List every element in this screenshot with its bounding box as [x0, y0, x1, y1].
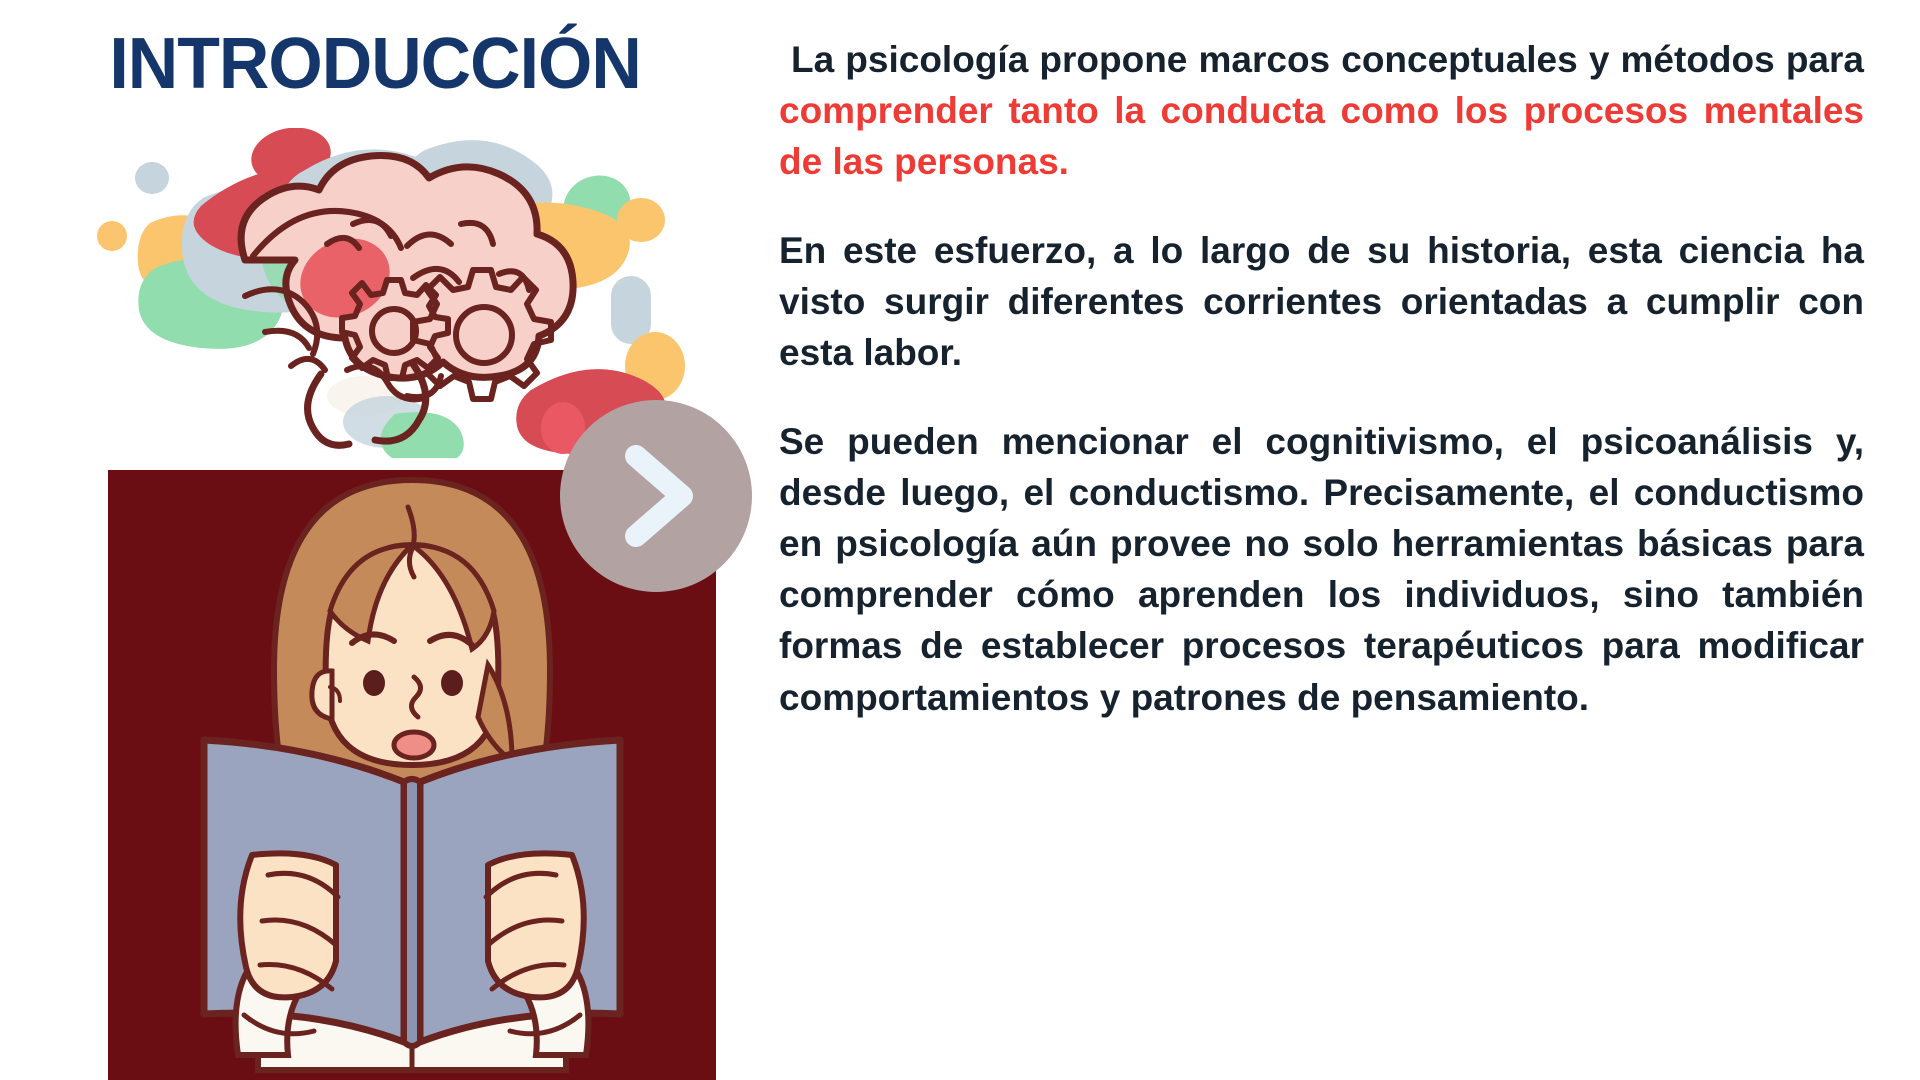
paragraph-1: La psicología propone marcos conceptuale… — [779, 34, 1864, 187]
paragraph-3: Se pueden mencionar el cognitivismo, el … — [779, 416, 1864, 722]
body-text-column: La psicología propone marcos conceptuale… — [779, 34, 1864, 723]
paragraph-1-highlight: comprender tanto la conducta como los pr… — [779, 90, 1864, 182]
paragraph-2: En este esfuerzo, a lo largo de su histo… — [779, 225, 1864, 378]
chevron-right-icon — [618, 444, 704, 548]
paragraph-1-lead: La psicología propone marcos conceptuale… — [791, 39, 1864, 80]
slide-introduccion: INTRODUCCIÓN — [0, 0, 1920, 1080]
next-slide-button[interactable] — [560, 400, 752, 592]
page-title: INTRODUCCIÓN — [55, 28, 695, 100]
left-visual-column: INTRODUCCIÓN — [0, 0, 770, 1080]
